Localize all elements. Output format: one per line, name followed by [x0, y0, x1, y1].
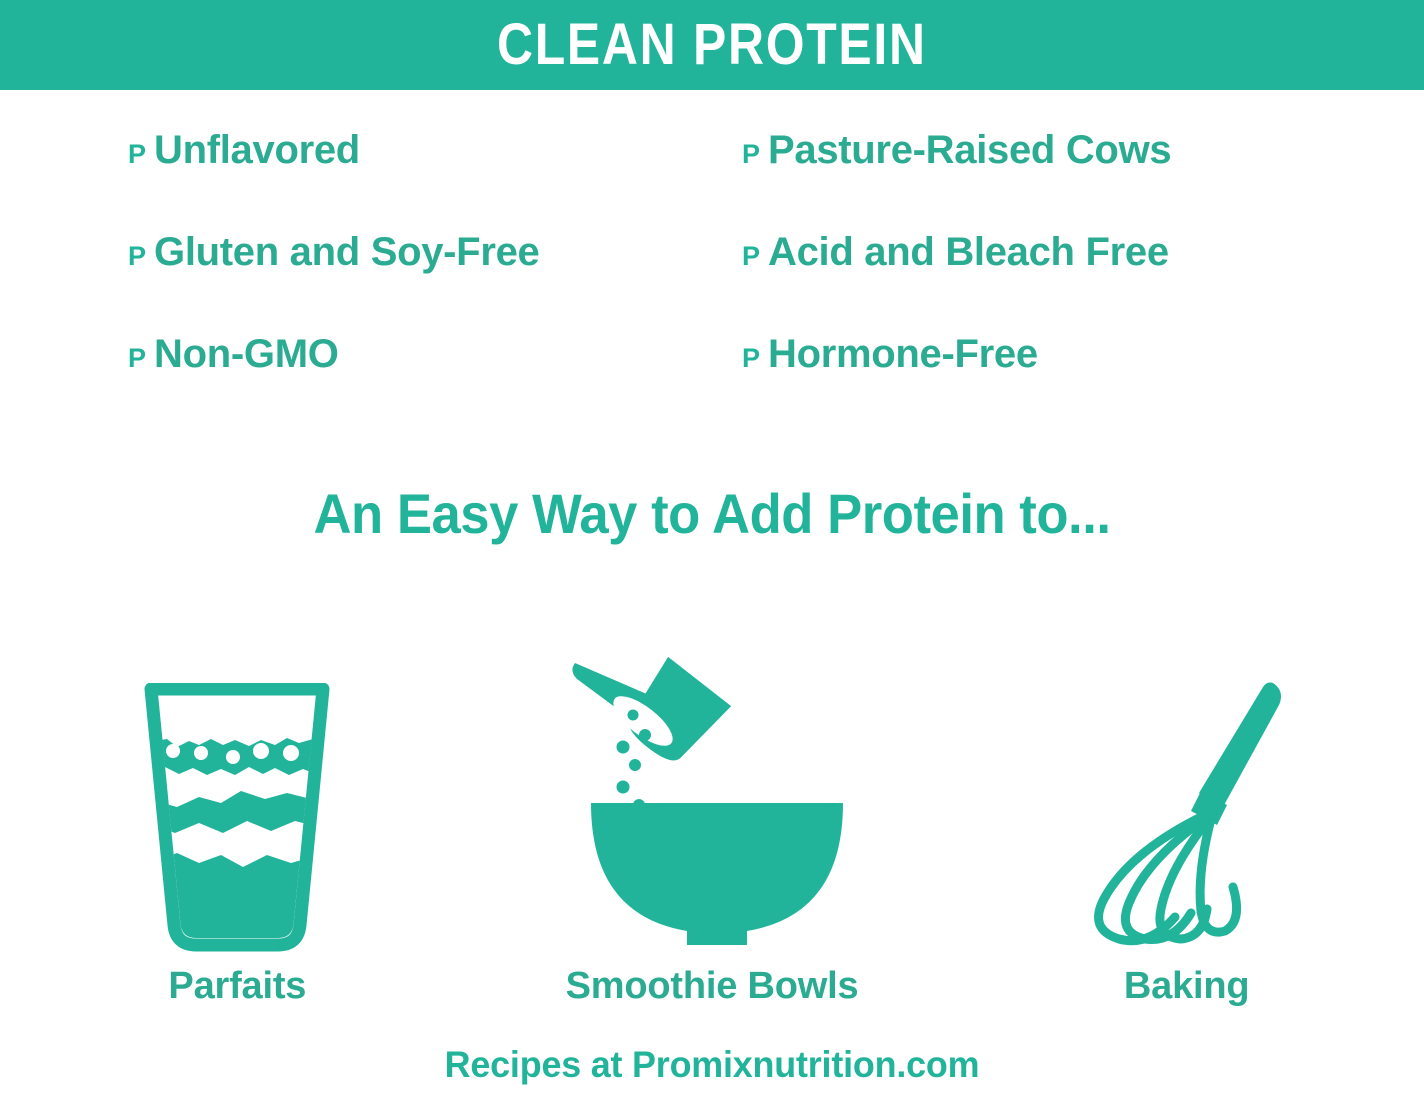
benefit-item: P Hormone-Free [742, 334, 1362, 436]
benefit-item: P Non-GMO [128, 334, 728, 436]
benefit-label: Gluten and Soy-Free [154, 232, 539, 272]
parfait-glass-icon [137, 683, 337, 953]
promix-p-bullet-icon: P [742, 141, 768, 168]
benefit-label: Non-GMO [154, 334, 339, 374]
footer-recipes-link[interactable]: Recipes at Promixnutrition.com [21, 1046, 1402, 1083]
whisk-icon [1077, 673, 1297, 953]
usecases-section: Parfaits [0, 595, 1424, 1005]
benefits-section: P Unflavored P Gluten and Soy-Free P Non… [0, 130, 1424, 430]
promix-p-bullet-icon: P [128, 243, 154, 270]
promix-p-bullet-icon: P [128, 345, 154, 372]
section-heading: An Easy Way to Add Protein to... [43, 486, 1382, 542]
usecase-label: Smoothie Bowls [566, 967, 859, 1005]
benefits-column-left: P Unflavored P Gluten and Soy-Free P Non… [128, 130, 728, 436]
usecase-label: Baking [1124, 967, 1250, 1005]
promix-p-bullet-icon: P [742, 345, 768, 372]
promix-p-bullet-icon: P [128, 141, 154, 168]
scoop-and-bowl-icon [557, 653, 867, 953]
benefit-label: Hormone-Free [768, 334, 1038, 374]
benefit-label: Acid and Bleach Free [768, 232, 1169, 272]
benefit-item: P Gluten and Soy-Free [128, 232, 728, 334]
benefit-label: Pasture-Raised Cows [768, 130, 1171, 170]
promix-p-bullet-icon: P [742, 243, 768, 270]
usecase-art [1077, 633, 1297, 953]
benefit-item: P Unflavored [128, 130, 728, 232]
benefits-column-right: P Pasture-Raised Cows P Acid and Bleach … [742, 130, 1362, 436]
benefit-item: P Pasture-Raised Cows [742, 130, 1362, 232]
usecase-art [557, 633, 867, 953]
usecase-art [137, 633, 337, 953]
usecase-baking: Baking [949, 595, 1424, 1005]
benefit-item: P Acid and Bleach Free [742, 232, 1362, 334]
usecase-label: Parfaits [168, 967, 306, 1005]
header-bar: CLEAN PROTEIN [0, 0, 1424, 90]
page-title: CLEAN PROTEIN [497, 16, 927, 74]
usecase-parfaits: Parfaits [0, 595, 475, 1005]
benefit-label: Unflavored [154, 130, 360, 170]
usecase-smoothie-bowls: Smoothie Bowls [475, 595, 950, 1005]
